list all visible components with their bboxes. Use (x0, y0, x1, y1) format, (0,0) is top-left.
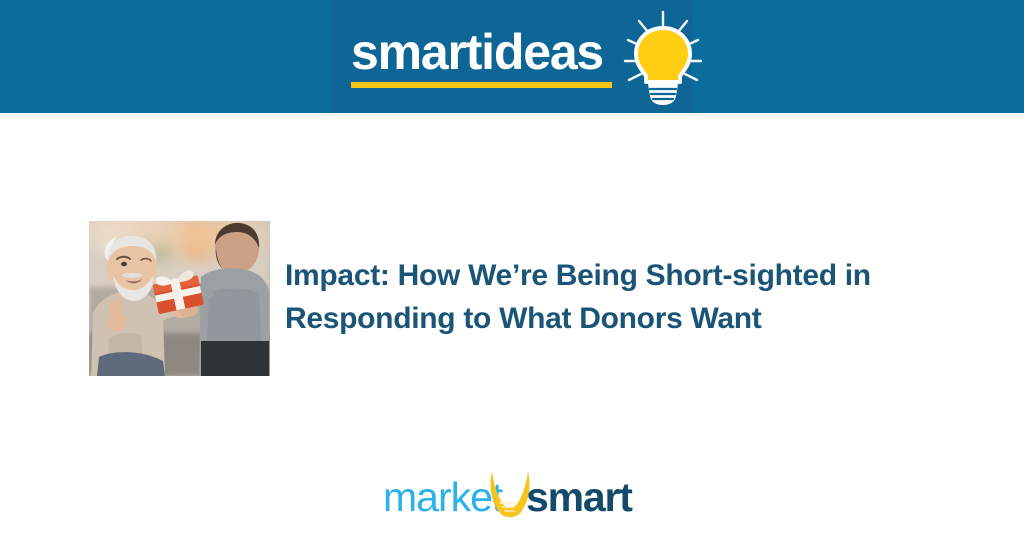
top-banner: smartideas (0, 0, 1024, 113)
article-headline[interactable]: Impact: How We’re Being Short-sighted in… (285, 255, 925, 340)
smartideas-logo[interactable]: smartideas (351, 14, 676, 104)
marketsmart-logo[interactable]: market smart (383, 468, 641, 520)
marketsmart-smart-word: smart (526, 477, 632, 518)
lightbulb-icon (606, 4, 702, 108)
article-photo[interactable] (89, 221, 270, 376)
marketsmart-market-word: market (383, 477, 502, 518)
content-area: Impact: How We’re Being Short-sighted in… (0, 113, 1024, 538)
smartideas-wordmark: smartideas (351, 27, 603, 77)
smartideas-underline (351, 82, 612, 88)
email-page: smartideas (0, 0, 1024, 538)
